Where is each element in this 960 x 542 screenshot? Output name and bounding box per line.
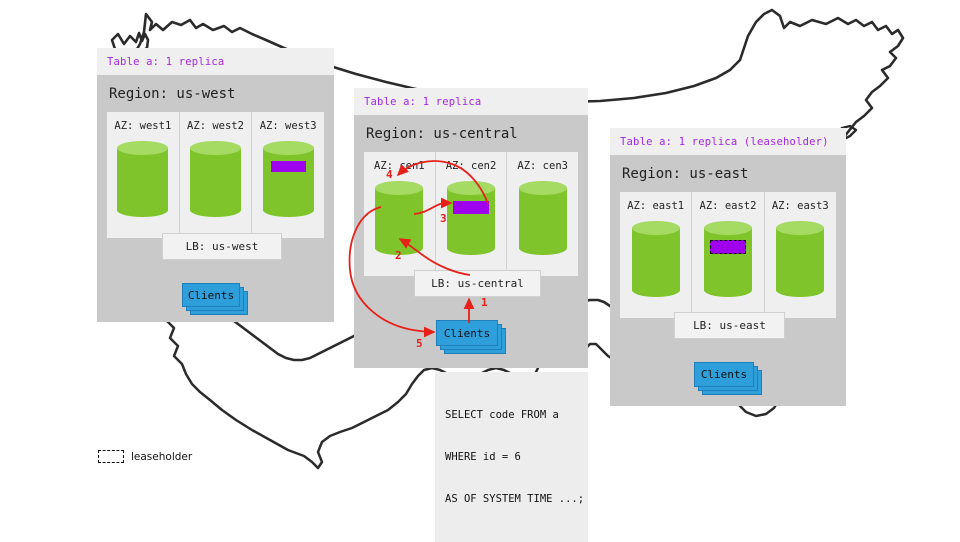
- clients-label[interactable]: Clients: [182, 283, 240, 307]
- sql-line-1: SELECT code FROM a: [445, 408, 578, 422]
- az-row-us-east: AZ: east1 AZ: east2 AZ: east3: [620, 192, 836, 318]
- region-panel-us-central: Table a: 1 replica Region: us-central AZ…: [354, 88, 588, 368]
- sql-line-2: WHERE id = 6: [445, 450, 578, 464]
- cylinder-body: [447, 188, 495, 248]
- node-cylinder-west2[interactable]: [190, 141, 241, 217]
- cylinder-body: [776, 228, 824, 290]
- node-cylinder-west1[interactable]: [117, 141, 168, 217]
- cylinder-top: [190, 141, 241, 155]
- load-balancer-us-west[interactable]: LB: us-west: [162, 233, 282, 260]
- region-panel-us-east: Table a: 1 replica (leaseholder) Region:…: [610, 128, 846, 406]
- clients-us-east[interactable]: Clients: [694, 362, 768, 396]
- az-label: AZ: west3: [260, 120, 317, 132]
- az-cen3[interactable]: AZ: cen3: [507, 152, 578, 276]
- cylinder-top: [704, 221, 752, 235]
- cylinder-body: [190, 148, 241, 210]
- node-cylinder-east3[interactable]: [776, 221, 824, 297]
- region-header-us-east: Table a: 1 replica (leaseholder): [610, 128, 846, 155]
- cylinder-body: [375, 188, 423, 248]
- cylinder-top: [447, 181, 495, 195]
- cylinder-body: [519, 188, 567, 248]
- region-title-us-east: Region: us-east: [610, 155, 846, 192]
- az-label: AZ: cen3: [517, 160, 568, 172]
- cylinder-body: [704, 228, 752, 290]
- cylinder-body: [117, 148, 168, 210]
- load-balancer-us-central[interactable]: LB: us-central: [414, 270, 541, 297]
- leaseholder-swatch-icon: [98, 450, 124, 463]
- clients-us-west[interactable]: Clients: [182, 283, 252, 316]
- node-cylinder-east1[interactable]: [632, 221, 680, 297]
- az-east2[interactable]: AZ: east2: [692, 192, 764, 318]
- node-cylinder-cen1[interactable]: [375, 181, 423, 255]
- arrow-label-2: 2: [395, 249, 402, 262]
- az-west3[interactable]: AZ: west3: [252, 112, 324, 238]
- az-label: AZ: east2: [700, 200, 757, 212]
- node-cylinder-cen2[interactable]: [447, 181, 495, 255]
- replica-block-cen2[interactable]: [453, 201, 489, 214]
- az-row-us-west: AZ: west1 AZ: west2 AZ: west3: [107, 112, 324, 238]
- diagram-canvas: Table a: 1 replica Region: us-west AZ: w…: [0, 0, 960, 540]
- region-panel-us-west: Table a: 1 replica Region: us-west AZ: w…: [97, 48, 334, 322]
- replica-block-west3[interactable]: [271, 161, 306, 172]
- cylinder-body: [263, 148, 314, 210]
- az-label: AZ: west2: [187, 120, 244, 132]
- clients-label[interactable]: Clients: [436, 320, 498, 346]
- arrow-label-4: 4: [386, 168, 393, 181]
- az-label: AZ: cen1: [374, 160, 425, 172]
- region-title-us-central: Region: us-central: [354, 115, 588, 152]
- arrow-label-1: 1: [481, 296, 488, 309]
- cylinder-top: [632, 221, 680, 235]
- clients-us-central[interactable]: Clients: [436, 320, 512, 354]
- sql-query-box: SELECT code FROM a WHERE id = 6 AS OF SY…: [435, 372, 588, 542]
- az-west1[interactable]: AZ: west1: [107, 112, 180, 238]
- legend-label: leaseholder: [131, 451, 192, 463]
- region-header-us-west: Table a: 1 replica: [97, 48, 334, 75]
- az-label: AZ: east1: [627, 200, 684, 212]
- arrow-label-5: 5: [416, 337, 423, 350]
- node-cylinder-east2[interactable]: [704, 221, 752, 297]
- arrow-label-3: 3: [440, 212, 447, 225]
- node-cylinder-cen3[interactable]: [519, 181, 567, 255]
- az-east1[interactable]: AZ: east1: [620, 192, 692, 318]
- region-title-us-west: Region: us-west: [97, 75, 334, 112]
- replica-block-east2-leaseholder[interactable]: [710, 240, 746, 254]
- az-label: AZ: cen2: [446, 160, 497, 172]
- az-label: AZ: east3: [772, 200, 829, 212]
- cylinder-top: [263, 141, 314, 155]
- legend: leaseholder: [98, 450, 192, 463]
- cylinder-body: [632, 228, 680, 290]
- load-balancer-us-east[interactable]: LB: us-east: [674, 312, 785, 339]
- clients-label[interactable]: Clients: [694, 362, 754, 387]
- cylinder-top: [776, 221, 824, 235]
- region-header-us-central: Table a: 1 replica: [354, 88, 588, 115]
- cylinder-top: [375, 181, 423, 195]
- cylinder-top: [519, 181, 567, 195]
- az-label: AZ: west1: [114, 120, 171, 132]
- node-cylinder-west3[interactable]: [263, 141, 314, 217]
- az-east3[interactable]: AZ: east3: [765, 192, 836, 318]
- cylinder-top: [117, 141, 168, 155]
- sql-line-3: AS OF SYSTEM TIME ...;: [445, 492, 578, 506]
- az-west2[interactable]: AZ: west2: [180, 112, 253, 238]
